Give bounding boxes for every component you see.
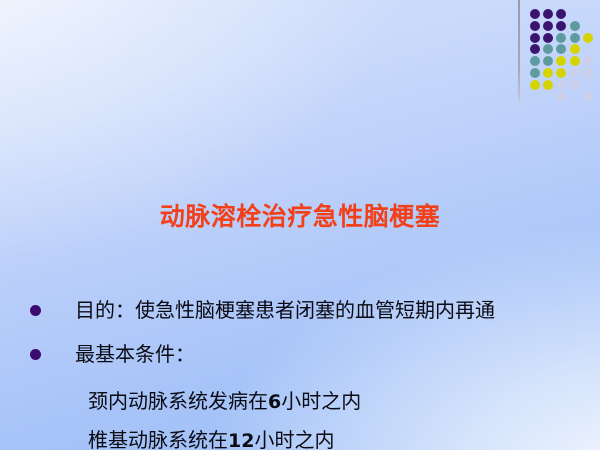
sub-line-vertebrobasilar-prefix: 椎基动脉系统在 <box>88 428 228 450</box>
presentation-slide: 动脉溶栓治疗急性脑梗塞 目的：使急性脑梗塞患者闭塞的血管短期内再通 最基本条件：… <box>0 0 600 450</box>
sub-line-carotid: 颈内动脉系统发病在6小时之内 <box>0 382 600 421</box>
decorative-dot <box>543 44 553 54</box>
decorative-dot <box>583 33 593 43</box>
dot-grid-motif <box>506 0 600 104</box>
decorative-dot <box>556 68 566 78</box>
decorative-dot <box>530 80 540 90</box>
decorative-dot <box>530 56 540 66</box>
sub-line-vertebrobasilar-hours: 12 <box>228 430 254 450</box>
decorative-dot <box>583 92 593 102</box>
bullet-marker-icon <box>30 349 41 360</box>
decorative-dot <box>570 80 580 90</box>
decorative-dot <box>556 56 566 66</box>
sub-line-vertebrobasilar: 椎基动脉系统在12小时之内 <box>0 421 600 450</box>
bullet-text-purpose: 目的：使急性脑梗塞患者闭塞的血管短期内再通 <box>75 294 600 326</box>
decorative-dot <box>556 21 566 31</box>
decorative-dot <box>556 9 566 19</box>
decorative-dot <box>556 80 566 90</box>
decorative-dot <box>530 44 540 54</box>
decorative-dot <box>556 44 566 54</box>
decorative-dot <box>556 33 566 43</box>
decorative-dot <box>530 9 540 19</box>
bullet-item-purpose: 目的：使急性脑梗塞患者闭塞的血管短期内再通 <box>0 294 600 334</box>
decorative-dot <box>570 56 580 66</box>
decorative-dot <box>570 33 580 43</box>
decorative-dot <box>583 68 593 78</box>
sub-line-vertebrobasilar-suffix: 小时之内 <box>254 428 334 450</box>
decorative-dot <box>583 56 593 66</box>
decorative-dot <box>556 92 566 102</box>
decorative-dot <box>543 9 553 19</box>
sub-line-carotid-hours: 6 <box>268 391 281 413</box>
decorative-dot <box>530 21 540 31</box>
decorative-dot <box>543 80 553 90</box>
decorative-dot <box>543 56 553 66</box>
decorative-dot <box>570 21 580 31</box>
slide-body: 目的：使急性脑梗塞患者闭塞的血管短期内再通 最基本条件： 颈内动脉系统发病在6小… <box>0 294 600 450</box>
decorative-dot <box>530 33 540 43</box>
decorative-dot <box>543 68 553 78</box>
sub-line-carotid-prefix: 颈内动脉系统发病在 <box>88 389 268 413</box>
vertical-rule-divider <box>518 0 520 101</box>
decorative-dot-grid <box>530 9 596 101</box>
decorative-dot <box>570 44 580 54</box>
sub-line-carotid-suffix: 小时之内 <box>281 389 361 413</box>
decorative-dot <box>543 33 553 43</box>
bullet-item-conditions: 最基本条件： <box>0 338 600 378</box>
decorative-dot <box>570 68 580 78</box>
bullet-text-conditions: 最基本条件： <box>75 338 600 370</box>
decorative-dot <box>543 21 553 31</box>
page-title: 动脉溶栓治疗急性脑梗塞 <box>0 202 600 232</box>
bullet-marker-icon <box>30 305 41 316</box>
decorative-dot <box>530 68 540 78</box>
